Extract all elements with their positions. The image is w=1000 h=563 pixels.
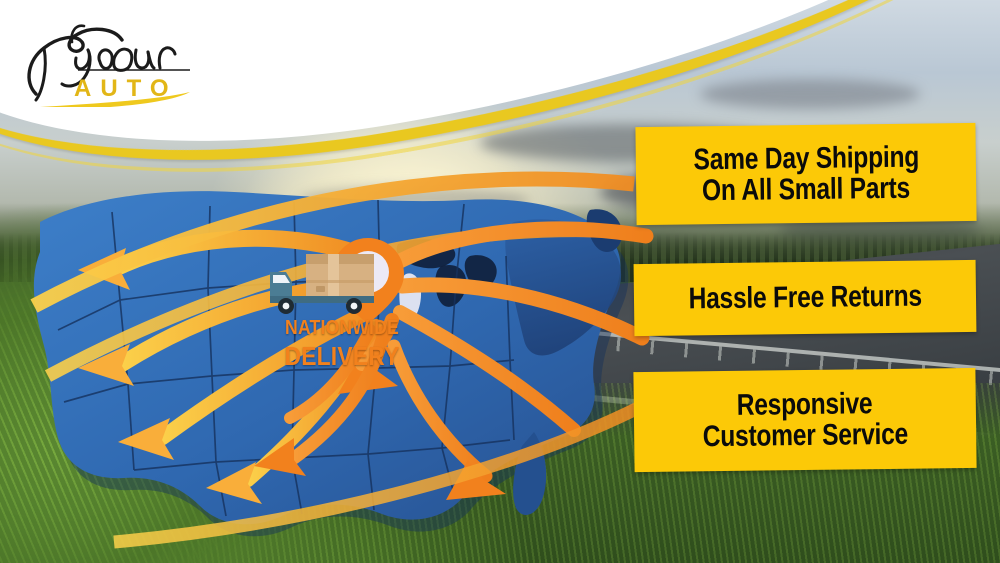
cargo-box-icon xyxy=(306,254,374,298)
brand-logo[interactable]: AUTO xyxy=(18,12,248,107)
badge-line-2: DELIVERY xyxy=(272,343,413,369)
logo-artwork: AUTO xyxy=(18,12,248,107)
promo-banner: AUTO xyxy=(0,0,1000,563)
feature-line: Same Day Shipping xyxy=(693,141,919,175)
truck-and-pin-graphic xyxy=(262,236,422,326)
feature-line: Customer Service xyxy=(702,419,908,453)
nationwide-delivery-badge: NATIONWIDE DELIVERY xyxy=(262,236,422,376)
feature-box-responsive-customer-service[interactable]: Responsive Customer Service xyxy=(633,368,976,472)
badge-line-1: NATIONWIDE xyxy=(272,318,413,338)
cloud xyxy=(700,79,920,109)
feature-box-hassle-free-returns[interactable]: Hassle Free Returns xyxy=(634,260,977,336)
feature-box-same-day-shipping[interactable]: Same Day Shipping On All Small Parts xyxy=(635,123,976,225)
feature-line: Responsive xyxy=(737,388,873,421)
feature-line: On All Small Parts xyxy=(702,173,910,207)
feature-line: Hassle Free Returns xyxy=(688,281,922,315)
